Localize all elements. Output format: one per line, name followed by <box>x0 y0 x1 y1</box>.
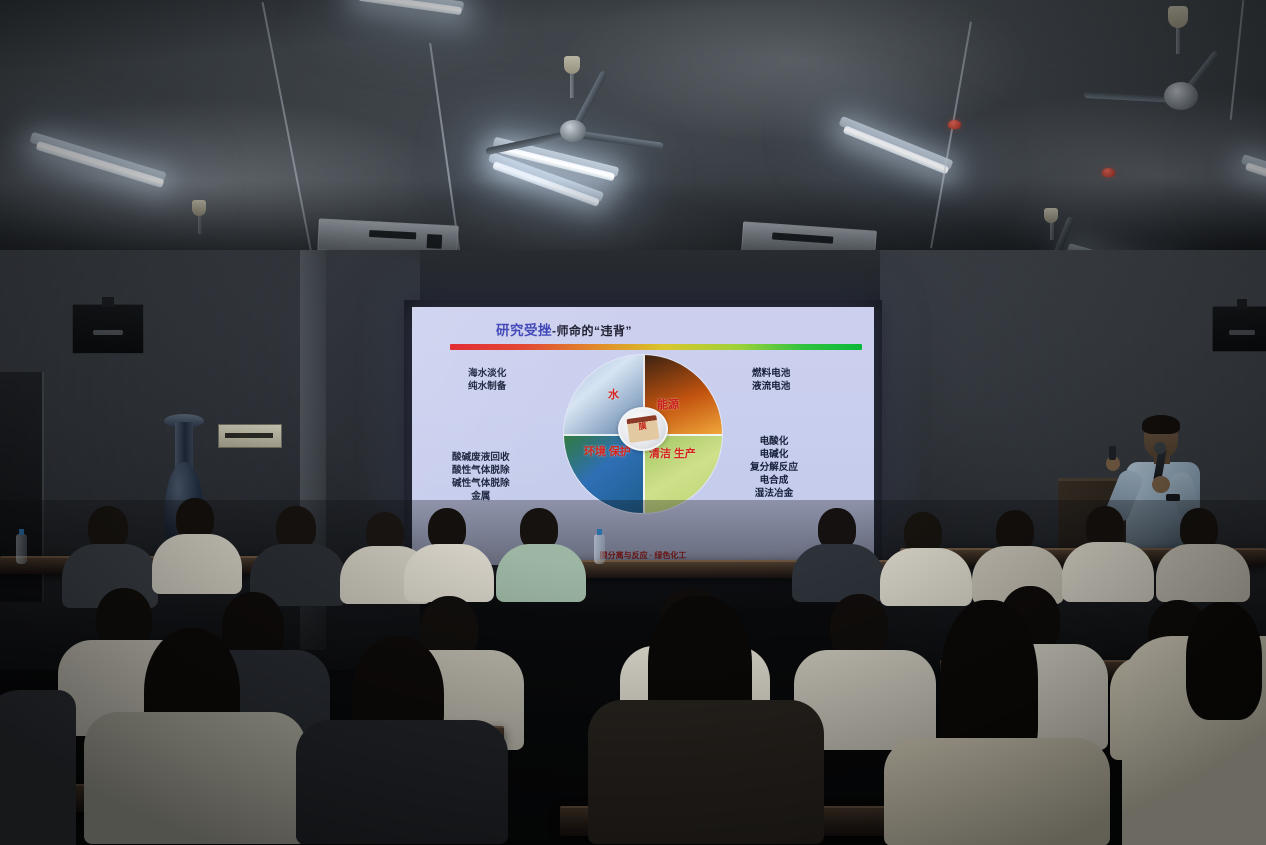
fan-mount <box>1168 6 1188 28</box>
speaker-grill <box>93 330 124 335</box>
presenter-right-hand <box>1152 476 1170 493</box>
smoke-detector-icon <box>1102 168 1115 177</box>
audience-body <box>496 544 586 602</box>
fan-hub <box>560 120 586 142</box>
text-line: 海水淡化 <box>468 367 506 380</box>
audience-body <box>588 700 824 844</box>
audience-body <box>404 544 494 602</box>
wall-speaker-left <box>72 304 144 354</box>
audience-body <box>1062 542 1154 602</box>
audience-body <box>880 548 972 606</box>
plaque-text-line <box>225 433 273 438</box>
speaker-grill <box>1229 330 1255 335</box>
text-line: 碱性气体脱除 <box>452 477 510 490</box>
text-line: 纯水制备 <box>468 380 506 393</box>
speaker-bracket <box>102 297 113 307</box>
audience-head <box>1186 602 1262 720</box>
text-line: 酸性气体脱除 <box>452 464 510 477</box>
quadrant-label: 能源 <box>657 399 679 411</box>
audience-body <box>296 720 508 844</box>
lecture-hall-photo: 研究受挫-师命的“违背” 海水淡化 纯水制备 燃料电池 液流电池 酸碱废液回收 … <box>0 0 1266 845</box>
quadrant-label: 水 <box>608 389 619 401</box>
slide-title-main: 研究受挫 <box>496 323 552 338</box>
text-line: 电酸化 <box>750 435 798 448</box>
microphone-head <box>1154 442 1166 454</box>
quadrant-label: 清洁 生产 <box>649 448 696 460</box>
slide-text-bottom-left: 酸碱废液回收 酸性气体脱除 碱性气体脱除 金属 <box>452 451 510 503</box>
slide-text-top-left: 海水淡化 纯水制备 <box>468 367 506 393</box>
text-line: 酸碱废液回收 <box>452 451 510 464</box>
text-line: 湿法冶金 <box>750 487 798 500</box>
text-line: 燃料电池 <box>752 367 790 380</box>
presenter-hair <box>1142 415 1180 434</box>
slide-text-top-right: 燃料电池 液流电池 <box>752 367 790 393</box>
text-line: 复分解反应 <box>750 461 798 474</box>
audience-body <box>884 738 1110 845</box>
water-bottle <box>594 534 605 564</box>
audience-body <box>1156 544 1250 602</box>
smoke-detector-icon <box>948 120 961 129</box>
slide-text-bottom-right: 电酸化 电碱化 复分解反应 电合成 湿法冶金 <box>750 435 798 500</box>
fan-mount <box>564 56 580 74</box>
fan-hub <box>1164 82 1198 110</box>
speaker-bracket <box>1237 299 1246 309</box>
diagram-center-badge: 膜 <box>618 407 668 451</box>
audience-body <box>152 534 242 594</box>
text-line: 液流电池 <box>752 380 790 393</box>
membrane-card-icon: 膜 <box>626 415 659 443</box>
water-bottle <box>16 534 27 564</box>
presenter-remote-icon <box>1109 446 1116 460</box>
audience-body <box>0 690 76 845</box>
wall-speaker-right <box>1212 306 1266 352</box>
center-label: 膜 <box>627 421 658 433</box>
audience-body <box>792 544 884 602</box>
text-line: 电合成 <box>750 474 798 487</box>
slide-title: 研究受挫-师命的“违背” <box>496 319 632 339</box>
text-line: 电碱化 <box>750 448 798 461</box>
wall-plaque <box>218 424 282 448</box>
quadrant-label: 环境 保护 <box>584 446 631 458</box>
audience-body <box>84 712 306 844</box>
slide-title-sub: -师命的“违背” <box>552 324 632 338</box>
slide-accent-bar <box>450 344 862 350</box>
